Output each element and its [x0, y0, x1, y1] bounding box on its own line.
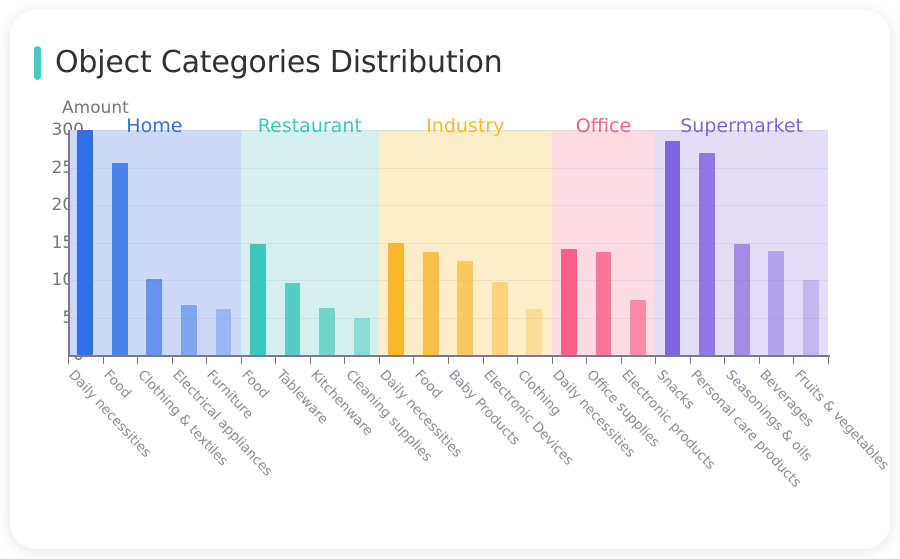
x-tick [621, 357, 622, 364]
x-tick [448, 357, 449, 364]
x-tick [483, 357, 484, 364]
x-tick [103, 357, 104, 364]
bar[interactable] [699, 153, 715, 356]
x-tick [172, 357, 173, 364]
screenshot-root: Object Categories Distribution Amount 05… [0, 0, 900, 559]
x-tick [552, 357, 553, 364]
x-tick [724, 357, 725, 364]
bar[interactable] [354, 318, 370, 355]
bar[interactable] [112, 163, 128, 355]
bar[interactable] [630, 300, 646, 355]
x-tick [68, 357, 69, 364]
x-tick [655, 357, 656, 364]
chart-title-row: Object Categories Distribution [34, 45, 503, 80]
bar[interactable] [216, 309, 232, 356]
x-tick [793, 357, 794, 364]
bar[interactable] [526, 309, 542, 356]
bar[interactable] [77, 130, 93, 355]
bar[interactable] [734, 244, 750, 355]
bar[interactable] [596, 252, 612, 356]
bar[interactable] [388, 243, 404, 356]
x-tick [828, 357, 829, 364]
x-tick [206, 357, 207, 364]
x-axis-line [68, 355, 830, 357]
bar[interactable] [803, 280, 819, 355]
bar[interactable] [250, 244, 266, 355]
bar[interactable] [561, 249, 577, 356]
plot-area [68, 130, 828, 355]
bar[interactable] [457, 261, 473, 355]
y-axis-title: Amount [62, 98, 129, 118]
bar[interactable] [665, 141, 681, 355]
x-tick [690, 357, 691, 364]
page-title: Object Categories Distribution [55, 45, 503, 80]
x-tick [586, 357, 587, 364]
group-label-restaurant: Restaurant [258, 115, 362, 137]
bar[interactable] [146, 279, 162, 355]
x-tick [759, 357, 760, 364]
bar[interactable] [423, 252, 439, 356]
group-label-home: Home [126, 115, 182, 137]
bar[interactable] [492, 282, 508, 356]
y-axis-line [68, 130, 70, 357]
bar[interactable] [768, 251, 784, 355]
x-tick [137, 357, 138, 364]
x-tick [413, 357, 414, 364]
bar[interactable] [181, 305, 197, 355]
x-tick [517, 357, 518, 364]
x-tick [241, 357, 242, 364]
title-accent-bar [34, 46, 41, 80]
x-tick-label: Food [238, 367, 272, 402]
group-label-supermarket: Supermarket [680, 115, 803, 137]
x-tick [310, 357, 311, 364]
x-tick [344, 357, 345, 364]
group-label-office: Office [576, 115, 631, 137]
bar[interactable] [285, 283, 301, 355]
group-label-industry: Industry [426, 115, 504, 137]
bar[interactable] [319, 308, 335, 355]
chart-card: Object Categories Distribution Amount 05… [10, 10, 890, 549]
x-tick [379, 357, 380, 364]
x-tick [275, 357, 276, 364]
